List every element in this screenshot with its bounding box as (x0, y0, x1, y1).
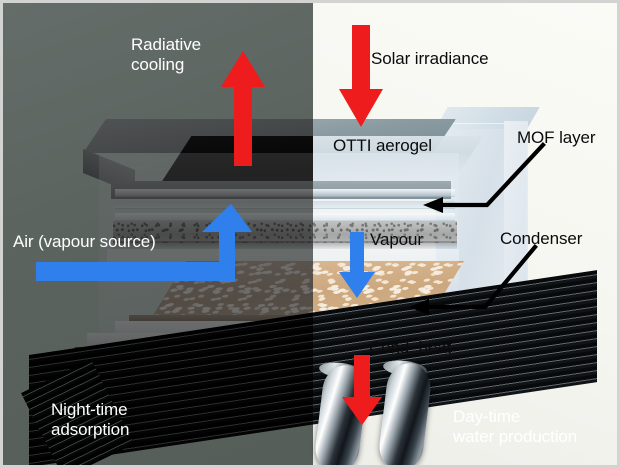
cond-heat-arrow (342, 355, 382, 425)
mof-layer-leader-line (415, 143, 545, 221)
label-day-time-water-production: Day-time water production (453, 407, 577, 447)
water-harvester-figure: Radiative cooling Air (vapour source) Ni… (0, 0, 620, 468)
label-mof-layer: MOF layer (517, 128, 595, 148)
label-condenser: Condenser (500, 229, 582, 249)
condenser-leader-line (399, 245, 539, 317)
solar-irradiance-arrow (339, 25, 383, 127)
label-night-time-adsorption: Night-time adsorption (51, 400, 129, 440)
label-solar-irradiance: Solar irradiance (371, 49, 488, 69)
label-cond-heat: Cond. heat (369, 338, 451, 358)
radiative-cooling-arrow (221, 51, 265, 166)
label-otti-aerogel: OTTI aerogel (333, 136, 432, 156)
label-radiative-cooling: Radiative cooling (131, 35, 201, 75)
label-vapour: Vapour (370, 230, 423, 250)
label-air-vapour-source: Air (vapour source) (13, 232, 156, 252)
